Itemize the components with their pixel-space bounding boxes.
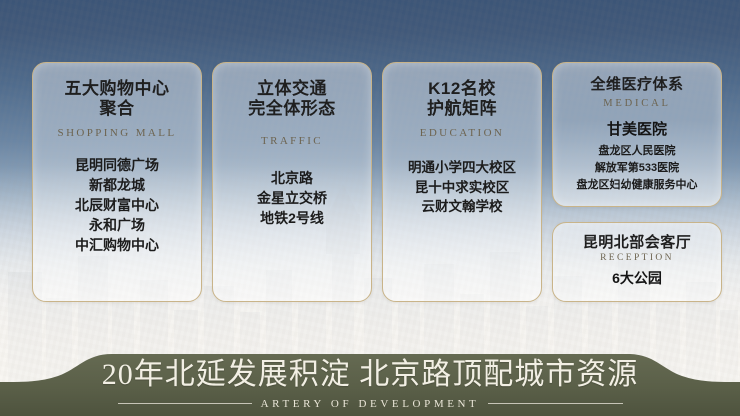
card-item-list: 北京路 金星立交桥 地铁2号线 — [219, 169, 365, 229]
list-item: 解放军第533医院 — [559, 160, 715, 177]
card-subtitle: TRAFFIC — [219, 135, 365, 147]
card-title: 立体交通 完全体形态 — [219, 79, 365, 118]
list-item: 中汇购物中心 — [39, 236, 195, 256]
card-traffic[interactable]: 立体交通 完全体形态 TRAFFIC 北京路 金星立交桥 地铁2号线 — [212, 62, 372, 302]
banner-subtitle: ARTERY OF DEVELOPMENT — [261, 398, 480, 410]
poster-canvas: 五大购物中心 聚合 SHOPPING MALL 昆明同德广场 新都龙城 北辰财富… — [0, 0, 740, 416]
card-subtitle: RECEPTION — [559, 253, 715, 263]
banner-subtitle-row: ARTERY OF DEVELOPMENT — [118, 398, 623, 410]
card-title: K12名校 护航矩阵 — [389, 79, 535, 118]
banner-rule-left — [118, 403, 252, 404]
card-lead-item: 6大公园 — [559, 268, 715, 288]
list-item: 盘龙区人民医院 — [559, 143, 715, 160]
list-item: 北京路 — [219, 169, 365, 189]
card-item-list: 盘龙区人民医院 解放军第533医院 盘龙区妇幼健康服务中心 — [559, 143, 715, 193]
card-title: 全维医疗体系 — [559, 76, 715, 93]
list-item: 新都龙城 — [39, 176, 195, 196]
card-subtitle: MEDICAL — [559, 98, 715, 109]
card-item-list: 昆明同德广场 新都龙城 北辰财富中心 永和广场 中汇购物中心 — [39, 156, 195, 255]
list-item: 北辰财富中心 — [39, 196, 195, 216]
card-medical[interactable]: 全维医疗体系 MEDICAL 甘美医院 盘龙区人民医院 解放军第533医院 盘龙… — [552, 62, 722, 207]
list-item: 昆十中求实校区 — [389, 178, 535, 197]
card-subtitle: SHOPPING MALL — [39, 127, 195, 139]
card-education[interactable]: K12名校 护航矩阵 EDUCATION 明通小学四大校区 昆十中求实校区 云财… — [382, 62, 542, 302]
bottom-banner: 20年北延发展积淀 北京路顶配城市资源 ARTERY OF DEVELOPMEN… — [0, 338, 740, 416]
card-title: 昆明北部会客厅 — [559, 234, 715, 251]
list-item: 地铁2号线 — [219, 209, 365, 229]
list-item: 明通小学四大校区 — [389, 158, 535, 177]
card-subtitle: EDUCATION — [389, 127, 535, 139]
list-item: 昆明同德广场 — [39, 156, 195, 176]
banner-title: 20年北延发展积淀 北京路顶配城市资源 — [102, 349, 639, 393]
card-reception[interactable]: 昆明北部会客厅 RECEPTION 6大公园 — [552, 222, 722, 302]
list-item: 永和广场 — [39, 216, 195, 236]
card-lead-item: 甘美医院 — [559, 118, 715, 139]
list-item: 金星立交桥 — [219, 189, 365, 209]
list-item: 盘龙区妇幼健康服务中心 — [559, 177, 715, 194]
list-item: 云财文翰学校 — [389, 197, 535, 216]
card-shopping-mall[interactable]: 五大购物中心 聚合 SHOPPING MALL 昆明同德广场 新都龙城 北辰财富… — [32, 62, 202, 302]
feature-card-grid: 五大购物中心 聚合 SHOPPING MALL 昆明同德广场 新都龙城 北辰财富… — [0, 0, 740, 340]
banner-rule-right — [488, 403, 622, 404]
card-title: 五大购物中心 聚合 — [39, 79, 195, 118]
card-item-list: 明通小学四大校区 昆十中求实校区 云财文翰学校 — [389, 158, 535, 215]
